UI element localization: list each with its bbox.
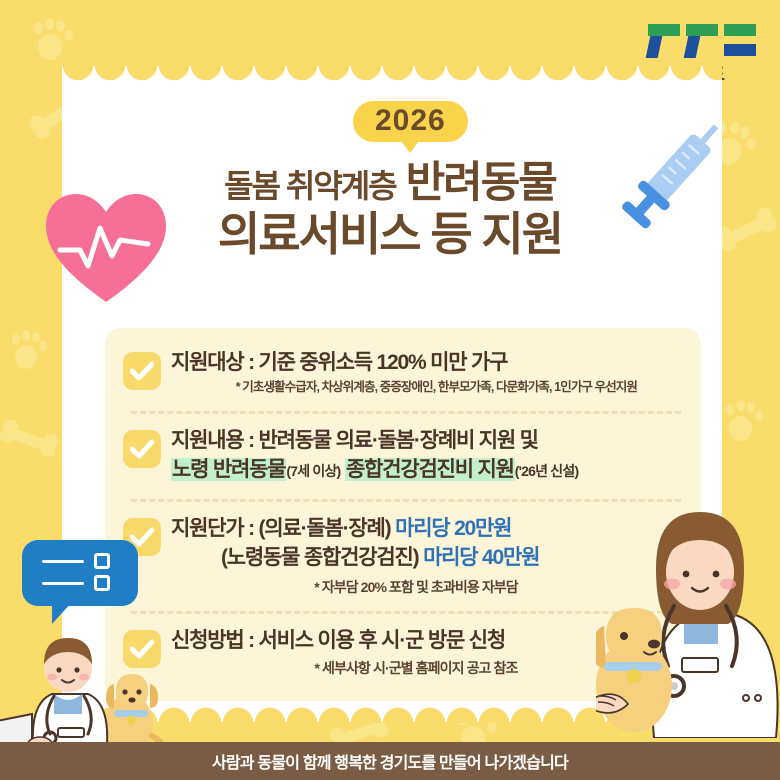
card-scallop-top (62, 65, 722, 83)
female-vet-illustration (596, 486, 780, 738)
paw-print-icon (10, 330, 48, 370)
highlight-checkup-support: 종합건강검진비 지원 (345, 458, 515, 481)
syringe-icon (616, 112, 744, 248)
dog-illustration (596, 608, 672, 732)
year-badge-label: 2026 (375, 106, 446, 136)
check-icon (123, 430, 161, 468)
paw-print-icon (32, 18, 74, 62)
unit-price-amount-2: 마리당 40만원 (423, 546, 539, 569)
footer-slogan: 사람과 동물이 함께 행복한 경기도를 만들어 나가겠습니다 (212, 749, 568, 773)
title-line1-small: 돌봄 취약계층 (224, 168, 396, 204)
info-item-subtitle: 노령 반려동물(7세 이상) 종합건강검진비 지원('26년 신설) (171, 456, 683, 484)
title-line1-big: 반려동물 (406, 159, 556, 207)
unit-price-category-2: (노령동물 종합건강검진) (221, 546, 418, 569)
logo-mark-icon (648, 24, 756, 58)
unit-price-category-1: 지원단가 : (의료·돌봄·장례) (171, 517, 390, 540)
male-vet-illustration (0, 596, 182, 756)
check-icon (123, 352, 161, 390)
info-item-title: 지원대상 : 기준 중위소득 120% 미만 가구 (171, 349, 683, 376)
info-item-note: * 기초생활수급자, 차상위계층, 중증장애인, 한부모가족, 다문화가족, 1… (171, 379, 683, 395)
footer-bar: 사람과 동물이 함께 행복한 경기도를 만들어 나가겠습니다 (0, 742, 780, 780)
heart-pulse-icon (42, 188, 170, 306)
age-qualifier: (7세 이상) (286, 463, 340, 479)
year-badge-tail (401, 141, 419, 153)
new-in-2026-note: ('26년 신설) (515, 463, 579, 479)
info-item-support-target: 지원대상 : 기준 중위소득 120% 미만 가구 * 기초생활수급자, 차상위… (105, 342, 701, 403)
paw-print-icon (724, 400, 764, 442)
info-item-title: 지원내용 : 반려동물 의료·돌봄·장례비 지원 및 (171, 427, 683, 454)
poster-canvas: 경기도 2026 돌봄 취약계층 반려동물 의료서비스 등 지원 (0, 0, 780, 780)
year-badge: 2026 (353, 101, 468, 142)
bone-icon (0, 409, 63, 468)
info-item-support-content: 지원내용 : 반려동물 의료·돌봄·장례비 지원 및 노령 반려동물(7세 이상… (105, 420, 701, 492)
divider (131, 411, 681, 414)
highlight-senior-pet: 노령 반려동물 (171, 458, 286, 481)
unit-price-amount-1: 마리당 20만원 (395, 517, 511, 540)
